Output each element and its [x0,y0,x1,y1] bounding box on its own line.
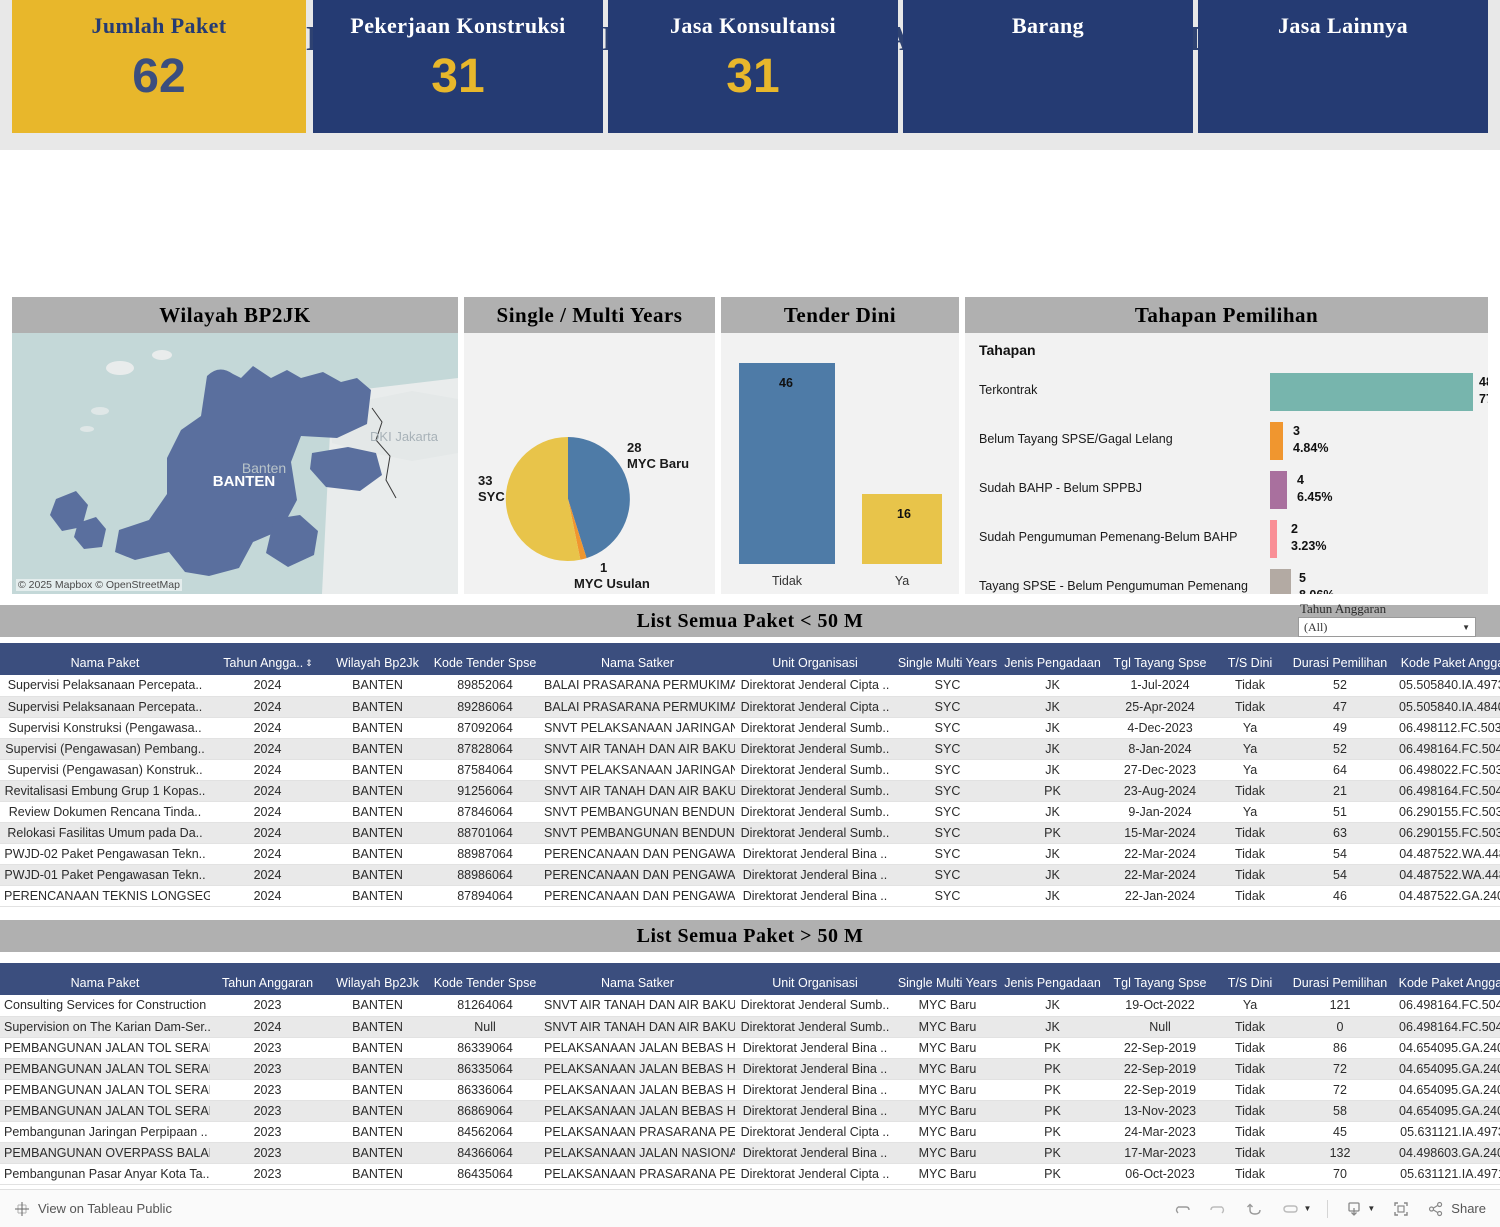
toolbar-divider [1327,1200,1328,1218]
table-cell: MYC Baru [895,1142,1000,1163]
table-cell: Direktorat Jenderal Sumb.. [735,801,895,822]
table-cell: Direktorat Jenderal Bina .. [735,864,895,885]
table-cell: Direktorat Jenderal Bina .. [735,1142,895,1163]
table-row[interactable]: PWJD-02 Paket Pengawasan Tekn..2024BANTE… [0,843,1500,864]
table-cell: PK [1000,1037,1105,1058]
table-row[interactable]: PWJD-01 Paket Pengawasan Tekn..2024BANTE… [0,864,1500,885]
tender-dini-canvas[interactable]: 46 Tidak 16 Ya [721,333,959,594]
table-cell: Direktorat Jenderal Sumb.. [735,995,895,1016]
table-cell: 2024 [210,738,325,759]
table-cell: MYC Baru [895,1163,1000,1184]
col-jenis-pengadaan[interactable]: Jenis Pengadaan [1000,963,1105,995]
table-row[interactable]: Pembangunan Jaringan Perpipaan ..2023BAN… [0,1121,1500,1142]
table-cell: MYC Baru [895,1121,1000,1142]
table-cell: JK [1000,801,1105,822]
table-cell: PWJD-02 Paket Pengawasan Tekn.. [0,843,210,864]
table-cell: 04.654095.GA.240. [1395,1037,1500,1058]
table-cell: SNVT AIR TANAH DAN AIR BAKU.. [540,1016,735,1037]
table-cell: Supervisi Pelaksanaan Percepata.. [0,696,210,717]
table-row[interactable]: Supervisi (Pengawasan) Konstruk..2024BAN… [0,759,1500,780]
table-cell: SYC [895,675,1000,696]
tahapan-canvas[interactable]: Tahapan Terkontrak 4877.42% Belum Tayang… [965,333,1488,594]
table-cell: BANTEN [325,1079,430,1100]
table-cell: 2024 [210,1016,325,1037]
table-cell: 27-Dec-2023 [1105,759,1215,780]
panel-tender-dini: Tender Dini 46 Tidak 16 Ya [721,297,959,594]
pie-canvas[interactable]: 28MYC Baru 33SYC 1MYC Usulan [464,333,715,594]
tahapan-row[interactable]: Belum Tayang SPSE/Gagal Lelang 34.84% [965,416,1488,465]
view-on-tableau-public-label: View on Tableau Public [38,1201,172,1216]
table-row[interactable]: Supervisi Pelaksanaan Percepata..2024BAN… [0,696,1500,717]
table-cell: PK [1000,1058,1105,1079]
table-cell: 05.631121.IA.4973 [1395,1121,1500,1142]
table-cell: 88987064 [430,843,540,864]
table-row[interactable]: Supervisi Pelaksanaan Percepata..2024BAN… [0,675,1500,696]
chevron-down-icon[interactable]: ▼ [1303,1204,1311,1213]
map-attribution: © 2025 Mapbox © OpenStreetMap [16,579,182,591]
table-row[interactable]: Revitalisasi Embung Grup 1 Kopas..2024BA… [0,780,1500,801]
table-cell: PEMBANGUNAN JALAN TOL SERAN.. [0,1079,210,1100]
tahapan-label: Sudah Pengumuman Pemenang-Belum BAHP [979,530,1237,544]
table-cell: PK [1000,1079,1105,1100]
table-row[interactable]: PEMBANGUNAN JALAN TOL SERAN..2023BANTEN8… [0,1100,1500,1121]
table-cell: Tidak [1215,1163,1285,1184]
table-cell: SYC [895,759,1000,780]
table-cell: 2024 [210,843,325,864]
table-cell: Tidak [1215,780,1285,801]
pie-label-syc: 33SYC [478,473,505,506]
col-tgl-tayang-spse[interactable]: Tgl Tayang Spse [1105,963,1215,995]
col-jenis-pengadaan[interactable]: Jenis Pengadaan [1000,643,1105,675]
table-small-container[interactable]: Nama Paket Tahun Angga..⇕ Wilayah Bp2Jk … [0,643,1500,907]
table-cell: Consulting Services for Construction [0,995,210,1016]
col-unit-organisasi[interactable]: Unit Organisasi [735,643,895,675]
toolbar-actions: ▼ ▼ Share [1172,1199,1486,1219]
table-cell: SYC [895,780,1000,801]
refresh-icon[interactable]: ▼ [1280,1199,1311,1219]
table-cell: 70 [1285,1163,1395,1184]
col-single-multi-years[interactable]: Single Multi Years [895,643,1000,675]
table-cell: 52 [1285,675,1395,696]
table-cell: Direktorat Jenderal Sumb.. [735,780,895,801]
table-cell: MYC Baru [895,1058,1000,1079]
kpi-label: Jasa Konsultansi [670,13,836,39]
col-tahun-anggaran[interactable]: Tahun Angga..⇕ [210,643,325,675]
table-row[interactable]: PEMBANGUNAN OVERPASS BALAR..2023BANTEN84… [0,1142,1500,1163]
download-icon[interactable]: ▼ [1344,1199,1375,1219]
table-cell: 86869064 [430,1100,540,1121]
table-row[interactable]: PEMBANGUNAN JALAN TOL SERAN..2023BANTEN8… [0,1079,1500,1100]
table-cell: BANTEN [325,1142,430,1163]
panel-single-multi-years: Single / Multi Years 28MYC Baru 33SYC 1M… [464,297,715,594]
table-cell: 06.498112.FC.5037 [1395,717,1500,738]
table-row[interactable]: PEMBANGUNAN JALAN TOL SERAN..2023BANTEN8… [0,1058,1500,1079]
table-cell: 04.487522.GA.2405 [1395,885,1500,906]
col-nama-paket[interactable]: Nama Paket [0,963,210,995]
table-cell: Direktorat Jenderal Bina .. [735,1100,895,1121]
table-cell: PK [1000,1142,1105,1163]
table-cell: SYC [895,843,1000,864]
table-cell: 86339064 [430,1037,540,1058]
tahapan-row[interactable]: Tayang SPSE - Belum Pengumuman Pemenang … [965,563,1488,594]
table-cell: Supervisi (Pengawasan) Pembang.. [0,738,210,759]
table-big[interactable]: Nama Paket Tahun Anggaran Wilayah Bp2Jk … [0,963,1500,1185]
table-cell: JK [1000,885,1105,906]
table-cell: SNVT PEMBANGUNAN BENDUN.. [540,822,735,843]
table-cell: BANTEN [325,885,430,906]
table-cell: BANTEN [325,1058,430,1079]
tahapan-label: Sudah BAHP - Belum SPPBJ [979,481,1142,495]
table-cell: 2024 [210,717,325,738]
table-cell: Pembangunan Jaringan Perpipaan .. [0,1121,210,1142]
col-kode-paket-anggaran[interactable]: Kode Paket Anggar [1395,963,1500,995]
table-cell: PERENCANAAN TEKNIS LONGSEG.. [0,885,210,906]
table-cell: Ya [1215,801,1285,822]
tahapan-bar[interactable] [1270,520,1277,558]
table-cell: BANTEN [325,717,430,738]
table-cell: JK [1000,843,1105,864]
table-row[interactable]: PEMBANGUNAN JALAN TOL SERAN..2023BANTEN8… [0,1037,1500,1058]
tahun-anggaran-filter[interactable]: Tahun Anggaran (All) ▼ [1298,601,1476,637]
table-cell: BANTEN [325,995,430,1016]
table-cell: 54 [1285,864,1395,885]
table-cell: 91256064 [430,780,540,801]
table-cell: Supervisi (Pengawasan) Konstruk.. [0,759,210,780]
table-cell: 04.487522.WA.448 [1395,864,1500,885]
table-cell: SYC [895,801,1000,822]
col-nama-paket[interactable]: Nama Paket [0,643,210,675]
table-cell: Tidak [1215,1121,1285,1142]
table-cell: 2024 [210,780,325,801]
chevron-down-icon[interactable]: ▼ [1367,1204,1375,1213]
table-cell: JK [1000,864,1105,885]
table-cell: Null [1105,1016,1215,1037]
col-tgl-tayang-spse[interactable]: Tgl Tayang Spse [1105,643,1215,675]
table-cell: 121 [1285,995,1395,1016]
table-cell: Direktorat Jenderal Sumb.. [735,738,895,759]
table-cell: Ya [1215,759,1285,780]
table-cell: BANTEN [325,1100,430,1121]
table-cell: 89852064 [430,675,540,696]
table-cell: Direktorat Jenderal Bina .. [735,1079,895,1100]
table-cell: Revitalisasi Embung Grup 1 Kopas.. [0,780,210,801]
bar-category-ya: Ya [862,574,942,588]
table-cell: 8-Jan-2024 [1105,738,1215,759]
table-cell: 22-Jan-2024 [1105,885,1215,906]
table-cell: MYC Baru [895,995,1000,1016]
col-kode-tender-spse[interactable]: Kode Tender Spse [430,963,540,995]
kpi-card-jumlah-paket[interactable]: Jumlah Paket 62 [12,0,306,133]
table-cell: 22-Mar-2024 [1105,843,1215,864]
col-ts-dini[interactable]: T/S Dini [1215,963,1285,995]
kpi-value: 31 [726,53,779,101]
table-cell: Direktorat Jenderal Cipta .. [735,1163,895,1184]
table-cell: Tidak [1215,696,1285,717]
col-wilayah-bp2jk[interactable]: Wilayah Bp2Jk [325,643,430,675]
bar-ya[interactable] [862,494,942,564]
col-durasi-pemilihan[interactable]: Durasi Pemilihan [1285,963,1395,995]
sort-ascending-icon[interactable]: ⇕ [305,658,312,669]
table-cell: 9-Jan-2024 [1105,801,1215,822]
table-cell: 13-Nov-2023 [1105,1100,1215,1121]
col-wilayah-bp2jk[interactable]: Wilayah Bp2Jk [325,963,430,995]
table-cell: Direktorat Jenderal Cipta .. [735,1121,895,1142]
table-cell: PERENCANAAN DAN PENGAWAS.. [540,885,735,906]
table-cell: 86335064 [430,1058,540,1079]
table-cell: 04.654095.GA.240. [1395,1100,1500,1121]
table-cell: Tidak [1215,1100,1285,1121]
table-row[interactable]: Review Dokumen Rencana Tinda..2024BANTEN… [0,801,1500,822]
table-cell: JK [1000,696,1105,717]
panel-tahapan-pemilihan: Tahapan Pemilihan Tahapan Terkontrak 487… [965,297,1488,594]
bar-value-tidak: 46 [779,376,793,390]
table-cell: Tidak [1215,1016,1285,1037]
table-cell: 15-Mar-2024 [1105,822,1215,843]
kpi-value: 31 [431,53,484,101]
tableau-icon [14,1201,30,1217]
pie-label-myc-usulan: 1MYC Usulan [574,560,650,593]
table-row[interactable]: Supervision on The Karian Dam-Ser..2024B… [0,1016,1500,1037]
table-small-header-row: Nama Paket Tahun Angga..⇕ Wilayah Bp2Jk … [0,643,1500,675]
table-cell: 46 [1285,885,1395,906]
table-cell: 2024 [210,801,325,822]
table-cell: 2024 [210,759,325,780]
table-cell: Relokasi Fasilitas Umum pada Da.. [0,822,210,843]
table-cell: 88986064 [430,864,540,885]
table-cell: MYC Baru [895,1079,1000,1100]
table-cell: PK [1000,1100,1105,1121]
panel-title-tahapan: Tahapan Pemilihan [965,297,1488,333]
table-cell: Direktorat Jenderal Sumb.. [735,822,895,843]
table-cell: 19-Oct-2022 [1105,995,1215,1016]
table-cell: SYC [895,822,1000,843]
tahapan-label: Tayang SPSE - Belum Pengumuman Pemenang [979,579,1248,593]
col-durasi-pemilihan[interactable]: Durasi Pemilihan [1285,643,1395,675]
table-cell: BANTEN [325,759,430,780]
table-cell: JK [1000,675,1105,696]
table-cell: 2024 [210,696,325,717]
table-cell: Tidak [1215,1079,1285,1100]
table-cell: 2023 [210,1121,325,1142]
table-cell: PELAKSANAAN PRASARANA PER.. [540,1121,735,1142]
table-cell: 2023 [210,995,325,1016]
bar-tidak[interactable] [739,363,835,564]
filter-value: (All) [1304,620,1327,635]
table-cell: 2024 [210,885,325,906]
table-cell: 22-Mar-2024 [1105,864,1215,885]
panel-title-pie: Single / Multi Years [464,297,715,333]
table-cell: 87846064 [430,801,540,822]
redo-icon[interactable] [1208,1199,1228,1219]
table-cell: SYC [895,717,1000,738]
table-cell: 04.498603.GA.240. [1395,1142,1500,1163]
tahapan-bar[interactable] [1270,422,1283,460]
table-cell: 87828064 [430,738,540,759]
tahapan-bar[interactable] [1270,373,1473,411]
banten-map-svg[interactable]: BANTEN DKI Jakarta Banten [12,333,458,594]
table-cell: 2023 [210,1163,325,1184]
table-cell: 88701064 [430,822,540,843]
table-row[interactable]: PERENCANAAN TEKNIS LONGSEG..2024BANTEN87… [0,885,1500,906]
table-cell: 2024 [210,822,325,843]
table-cell: 87894064 [430,885,540,906]
tahapan-row[interactable]: Terkontrak 4877.42% [965,367,1488,416]
table-cell: MYC Baru [895,1100,1000,1121]
col-tahun-anggaran[interactable]: Tahun Anggaran [210,963,325,995]
table-row[interactable]: Pembangunan Pasar Anyar Kota Ta..2023BAN… [0,1163,1500,1184]
panel-title-map: Wilayah BP2JK [12,297,458,333]
table-small[interactable]: Nama Paket Tahun Angga..⇕ Wilayah Bp2Jk … [0,643,1500,907]
table-cell: Null [430,1016,540,1037]
table-cell: PELAKSANAAN JALAN BEBAS HA.. [540,1037,735,1058]
table-cell: 23-Aug-2024 [1105,780,1215,801]
revert-icon[interactable] [1244,1199,1264,1219]
table-cell: 84562064 [430,1121,540,1142]
table-cell: 25-Apr-2024 [1105,696,1215,717]
col-nama-satker[interactable]: Nama Satker [540,643,735,675]
table-cell: 2023 [210,1100,325,1121]
table-cell: MYC Baru [895,1016,1000,1037]
panel-wilayah-bp2jk: Wilayah BP2JK BANTEN DKI Jakarta Banten … [12,297,458,594]
table-row[interactable]: Supervisi (Pengawasan) Pembang..2024BANT… [0,738,1500,759]
table-cell: 86435064 [430,1163,540,1184]
table-cell: 17-Mar-2023 [1105,1142,1215,1163]
table-cell: 86 [1285,1037,1395,1058]
table-cell: 1-Jul-2024 [1105,675,1215,696]
table-cell: Supervisi Pelaksanaan Percepata.. [0,675,210,696]
table-cell: 06.290155.FC.5039 [1395,801,1500,822]
table-big-title: List Semua Paket > 50 M [637,925,864,948]
tahapan-legend-title: Tahapan [979,342,1036,358]
share-button[interactable]: Share [1427,1200,1486,1218]
table-cell: SNVT PELAKSANAAN JARINGAN .. [540,717,735,738]
table-cell: 87584064 [430,759,540,780]
table-cell: 58 [1285,1100,1395,1121]
table-cell: 51 [1285,801,1395,822]
table-cell: PEMBANGUNAN JALAN TOL SERAN.. [0,1100,210,1121]
tahapan-value: 23.23% [1291,521,1326,555]
tahapan-bar[interactable] [1270,471,1287,509]
kpi-card-jasa-konsultansi[interactable]: Jasa Konsultansi 31 [608,0,898,133]
table-cell: SYC [895,885,1000,906]
col-kode-tender-spse[interactable]: Kode Tender Spse [430,643,540,675]
filter-select[interactable]: (All) ▼ [1298,617,1476,637]
table-cell: BALAI PRASARANA PERMUKIMA.. [540,675,735,696]
table-cell: 06.498164.FC.5040 [1395,1016,1500,1037]
tableau-bottom-toolbar: View on Tableau Public ▼ ▼ [0,1189,1500,1227]
col-single-multi-years[interactable]: Single Multi Years [895,963,1000,995]
table-big-container[interactable]: Nama Paket Tahun Anggaran Wilayah Bp2Jk … [0,963,1500,1185]
table-cell: 86336064 [430,1079,540,1100]
table-cell: Tidak [1215,1142,1285,1163]
table-cell: PEMBANGUNAN OVERPASS BALAR.. [0,1142,210,1163]
table-cell: BANTEN [325,864,430,885]
table-cell: BANTEN [325,843,430,864]
tahapan-value: 34.84% [1293,423,1328,457]
table-cell: MYC Baru [895,1037,1000,1058]
table-cell: 54 [1285,843,1395,864]
table-cell: JK [1000,759,1105,780]
map-neighbor-label: DKI Jakarta [370,429,439,444]
table-cell: PWJD-01 Paket Pengawasan Tekn.. [0,864,210,885]
table-cell: Direktorat Jenderal Sumb.. [735,717,895,738]
table-cell: Tidak [1215,1037,1285,1058]
col-kode-paket-anggaran[interactable]: Kode Paket Angga [1395,643,1500,675]
col-unit-organisasi[interactable]: Unit Organisasi [735,963,895,995]
table-cell: Supervision on The Karian Dam-Ser.. [0,1016,210,1037]
table-cell: BANTEN [325,1121,430,1142]
table-cell: 06.498164.FC.5040 [1395,995,1500,1016]
table-cell: 04.654095.GA.240. [1395,1058,1500,1079]
kpi-card-pekerjaan-konstruksi[interactable]: Pekerjaan Konstruksi 31 [313,0,603,133]
table-cell: 81264064 [430,995,540,1016]
table-cell: JK [1000,717,1105,738]
tahapan-bar[interactable] [1270,569,1291,594]
share-icon [1427,1200,1445,1218]
view-on-tableau-public[interactable]: View on Tableau Public [14,1201,172,1217]
col-nama-satker[interactable]: Nama Satker [540,963,735,995]
table-row[interactable]: Supervisi Konstruksi (Pengawasa..2024BAN… [0,717,1500,738]
table-cell: SNVT PELAKSANAAN JARINGAN .. [540,759,735,780]
table-small-title-bar: List Semua Paket < 50 M [0,605,1500,637]
map-canvas[interactable]: BANTEN DKI Jakarta Banten © 2025 Mapbox … [12,333,458,594]
table-cell: 2023 [210,1142,325,1163]
tahapan-row[interactable]: Sudah BAHP - Belum SPPBJ 46.45% [965,465,1488,514]
pie-label-myc-baru: 28MYC Baru [627,440,689,473]
kpi-label: Pekerjaan Konstruksi [350,13,565,39]
table-cell: BANTEN [325,1016,430,1037]
col-ts-dini[interactable]: T/S Dini [1215,643,1285,675]
table-cell: Direktorat Jenderal Cipta .. [735,696,895,717]
table-cell: Direktorat Jenderal Bina .. [735,1037,895,1058]
table-cell: PEMBANGUNAN JALAN TOL SERAN.. [0,1037,210,1058]
tahapan-row[interactable]: Sudah Pengumuman Pemenang-Belum BAHP 23.… [965,514,1488,563]
tahapan-label: Belum Tayang SPSE/Gagal Lelang [979,432,1173,446]
table-cell: 52 [1285,738,1395,759]
table-cell: Ya [1215,995,1285,1016]
tahapan-value: 4877.42% [1479,374,1488,408]
chevron-down-icon[interactable]: ▼ [1462,623,1470,632]
table-cell: PELAKSANAAN JALAN BEBAS HA.. [540,1100,735,1121]
kpi-label: Barang [1012,13,1084,39]
table-cell: BANTEN [325,696,430,717]
table-cell: PEMBANGUNAN JALAN TOL SERAN.. [0,1058,210,1079]
table-cell: 2024 [210,675,325,696]
kpi-label: Jasa Lainnya [1278,13,1408,39]
table-row[interactable]: Consulting Services for Construction2023… [0,995,1500,1016]
table-cell: 63 [1285,822,1395,843]
kpi-row: Jumlah Paket 62 Pekerjaan Konstruksi 31 … [0,0,1500,135]
table-cell: BANTEN [325,801,430,822]
table-cell: 84366064 [430,1142,540,1163]
table-row[interactable]: Relokasi Fasilitas Umum pada Da..2024BAN… [0,822,1500,843]
undo-icon[interactable] [1172,1199,1192,1219]
table-cell: Tidak [1215,885,1285,906]
table-small-body: Supervisi Pelaksanaan Percepata..2024BAN… [0,675,1500,906]
table-cell: 49 [1285,717,1395,738]
table-cell: 22-Sep-2019 [1105,1058,1215,1079]
kpi-card-barang[interactable]: Barang [903,0,1193,133]
kpi-card-jasa-lainnya[interactable]: Jasa Lainnya [1198,0,1488,133]
table-cell: BALAI PRASARANA PERMUKIMA.. [540,696,735,717]
table-cell: PK [1000,780,1105,801]
tahapan-label: Terkontrak [979,383,1037,397]
table-cell: PK [1000,822,1105,843]
table-cell: 24-Mar-2023 [1105,1121,1215,1142]
table-cell: 22-Sep-2019 [1105,1079,1215,1100]
table-cell: 06-Oct-2023 [1105,1163,1215,1184]
fullscreen-icon[interactable] [1391,1199,1411,1219]
